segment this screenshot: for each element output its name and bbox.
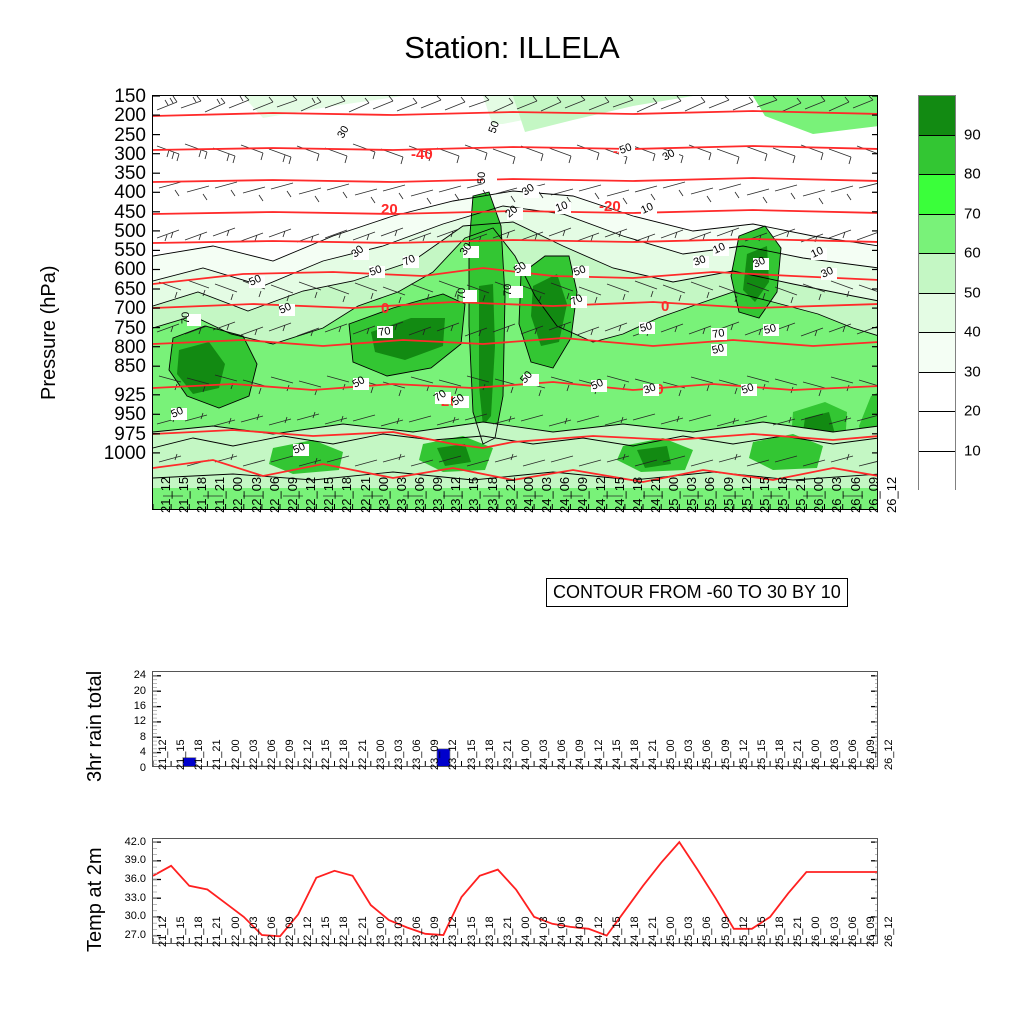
x-tick-23_12: 23_12	[447, 739, 459, 770]
svg-text:70: 70	[180, 312, 192, 324]
x-tick-26_12: 26_12	[883, 916, 895, 947]
x-tick-23_15: 23_15	[466, 739, 478, 770]
svg-text:0: 0	[381, 300, 389, 317]
x-tick-22_12: 22_12	[303, 477, 318, 513]
x-tick-25_15: 25_15	[756, 739, 768, 770]
x-tick-23_21: 23_21	[502, 916, 514, 947]
x-tick-23_18: 23_18	[484, 916, 496, 947]
x-tick-21_18: 21_18	[194, 477, 209, 513]
x-tick-26_06: 26_06	[847, 739, 859, 770]
x-tick-22_21: 22_21	[357, 916, 369, 947]
x-tick-24_15: 24_15	[611, 739, 623, 770]
x-tick-22_09: 22_09	[284, 739, 296, 770]
x-tick-25_00: 25_00	[665, 916, 677, 947]
x-tick-22_06: 22_06	[266, 916, 278, 947]
colorbar-label-60: 60	[964, 245, 981, 262]
temp-y-tick-39: 39.0	[125, 854, 146, 866]
x-tick-23_21: 23_21	[502, 739, 514, 770]
x-tick-26_12: 26_12	[884, 477, 899, 513]
x-tick-22_06: 22_06	[267, 477, 282, 513]
x-tick-23_03: 23_03	[394, 477, 409, 513]
x-tick-21_21: 21_21	[211, 739, 223, 770]
x-tick-22_12: 22_12	[302, 916, 314, 947]
x-tick-23_12: 23_12	[448, 477, 463, 513]
temp-panel-y-axis: 27.030.033.036.039.042.0	[100, 838, 146, 944]
rain-y-tick-16: 16	[134, 700, 146, 712]
x-tick-24_15: 24_15	[612, 477, 627, 513]
page-title: Station: ILLELA	[0, 30, 1024, 66]
x-tick-24_21: 24_21	[648, 477, 663, 513]
x-tick-23_00: 23_00	[375, 739, 387, 770]
x-tick-22_00: 22_00	[230, 739, 242, 770]
x-tick-22_21: 22_21	[357, 739, 369, 770]
x-tick-25_21: 25_21	[792, 916, 804, 947]
main-y-tick-1000: 1000	[104, 443, 146, 465]
x-tick-23_21: 23_21	[503, 477, 518, 513]
temp-panel[interactable]	[152, 838, 878, 944]
x-tick-24_06: 24_06	[556, 739, 568, 770]
x-tick-22_03: 22_03	[249, 477, 264, 513]
x-tick-24_18: 24_18	[629, 916, 641, 947]
rain-plot-canvas	[153, 672, 878, 767]
x-tick-24_15: 24_15	[611, 916, 623, 947]
colorbar-label-40: 40	[964, 324, 981, 341]
x-tick-24_18: 24_18	[629, 739, 641, 770]
x-tick-22_09: 22_09	[284, 916, 296, 947]
x-tick-25_09: 25_09	[721, 477, 736, 513]
x-tick-21_15: 21_15	[175, 916, 187, 947]
x-tick-25_12: 25_12	[739, 477, 754, 513]
x-tick-24_12: 24_12	[593, 916, 605, 947]
svg-text:-40: -40	[411, 146, 433, 163]
svg-text:70: 70	[377, 325, 391, 339]
temp-plot-canvas	[153, 839, 878, 944]
x-tick-26_00: 26_00	[810, 916, 822, 947]
svg-text:20: 20	[381, 201, 398, 218]
rain-y-tick-20: 20	[134, 685, 146, 697]
rain-y-tick-12: 12	[134, 715, 146, 727]
svg-text:50: 50	[476, 172, 488, 184]
x-tick-25_15: 25_15	[756, 916, 768, 947]
x-tick-21_15: 21_15	[176, 477, 191, 513]
x-tick-22_18: 22_18	[338, 739, 350, 770]
x-tick-22_00: 22_00	[230, 916, 242, 947]
x-tick-22_15: 22_15	[321, 477, 336, 513]
main-panel-y-axis: 1502002503003504004505005506006507007508…	[60, 95, 146, 510]
x-tick-23_15: 23_15	[466, 916, 478, 947]
x-tick-24_00: 24_00	[520, 916, 532, 947]
colorbar-label-50: 50	[964, 284, 981, 301]
x-tick-22_00: 22_00	[230, 477, 245, 513]
x-tick-21_12: 21_12	[157, 739, 169, 770]
temp-y-tick-36: 36.0	[125, 873, 146, 885]
x-tick-23_09: 23_09	[430, 477, 445, 513]
x-tick-25_03: 25_03	[683, 739, 695, 770]
x-tick-24_09: 24_09	[574, 916, 586, 947]
x-tick-25_03: 25_03	[683, 916, 695, 947]
main-plot-canvas: -40 -40 20 -20 0 0 20 20 30 50 50 30 50 …	[153, 96, 878, 510]
colorbar-label-80: 80	[964, 166, 981, 183]
x-tick-24_06: 24_06	[556, 916, 568, 947]
x-tick-24_06: 24_06	[557, 477, 572, 513]
temp-plot-frame[interactable]	[152, 838, 878, 944]
x-tick-25_21: 25_21	[793, 477, 808, 513]
svg-text:0: 0	[661, 298, 669, 315]
x-tick-24_12: 24_12	[593, 477, 608, 513]
x-tick-22_21: 22_21	[358, 477, 373, 513]
x-tick-26_09: 26_09	[865, 739, 877, 770]
x-tick-26_09: 26_09	[865, 916, 877, 947]
x-tick-23_03: 23_03	[393, 916, 405, 947]
x-tick-25_06: 25_06	[701, 739, 713, 770]
colorbar-labels: 908070605040302010	[918, 95, 1018, 490]
x-tick-22_03: 22_03	[248, 739, 260, 770]
x-tick-21_18: 21_18	[193, 739, 205, 770]
x-tick-26_06: 26_06	[848, 477, 863, 513]
x-tick-25_18: 25_18	[774, 916, 786, 947]
x-tick-23_06: 23_06	[411, 739, 423, 770]
x-tick-25_06: 25_06	[702, 477, 717, 513]
x-tick-23_18: 23_18	[484, 739, 496, 770]
x-tick-21_12: 21_12	[157, 916, 169, 947]
x-tick-26_00: 26_00	[810, 739, 822, 770]
main-panel-x-axis: 21_1221_1521_1821_2122_0022_0322_0622_09…	[152, 513, 878, 583]
x-tick-25_09: 25_09	[720, 916, 732, 947]
colorbar-label-20: 20	[964, 403, 981, 420]
x-tick-22_15: 22_15	[320, 916, 332, 947]
rain-y-tick-4: 4	[140, 746, 146, 758]
x-tick-21_21: 21_21	[212, 477, 227, 513]
x-tick-25_18: 25_18	[775, 477, 790, 513]
x-tick-23_06: 23_06	[411, 916, 423, 947]
x-tick-25_12: 25_12	[738, 739, 750, 770]
x-tick-22_18: 22_18	[339, 477, 354, 513]
rain-y-tick-0: 0	[140, 762, 146, 774]
x-tick-22_15: 22_15	[320, 739, 332, 770]
x-tick-23_03: 23_03	[393, 739, 405, 770]
svg-text:70: 70	[711, 327, 725, 341]
main-y-tick-850: 850	[114, 356, 146, 378]
x-tick-25_18: 25_18	[774, 739, 786, 770]
x-tick-25_15: 25_15	[757, 477, 772, 513]
x-tick-24_09: 24_09	[574, 739, 586, 770]
rain-plot-frame[interactable]	[152, 671, 878, 767]
temp-y-tick-42: 42.0	[125, 836, 146, 848]
x-tick-24_12: 24_12	[593, 739, 605, 770]
x-tick-21_21: 21_21	[211, 916, 223, 947]
rain-panel-x-axis: 21_1221_1521_1821_2122_0022_0322_0622_09…	[152, 770, 878, 840]
colorbar-label-70: 70	[964, 205, 981, 222]
x-tick-26_12: 26_12	[883, 739, 895, 770]
x-tick-26_06: 26_06	[847, 916, 859, 947]
x-tick-21_18: 21_18	[193, 916, 205, 947]
x-tick-22_03: 22_03	[248, 916, 260, 947]
x-tick-23_00: 23_00	[376, 477, 391, 513]
rain-panel-y-axis-label: 3hr rain total	[84, 671, 107, 782]
x-tick-25_00: 25_00	[665, 739, 677, 770]
contour-note: CONTOUR FROM -60 TO 30 BY 10	[546, 578, 848, 607]
main-panel-y-axis-label: Pressure (hPa)	[38, 266, 61, 401]
x-tick-24_00: 24_00	[520, 739, 532, 770]
x-tick-21_12: 21_12	[158, 477, 173, 513]
x-tick-22_18: 22_18	[338, 916, 350, 947]
x-tick-24_21: 24_21	[647, 739, 659, 770]
x-tick-22_12: 22_12	[302, 739, 314, 770]
x-tick-22_09: 22_09	[285, 477, 300, 513]
x-tick-26_03: 26_03	[829, 916, 841, 947]
x-tick-25_21: 25_21	[792, 739, 804, 770]
x-tick-23_12: 23_12	[447, 916, 459, 947]
rain-panel-y-axis: 04812162024	[108, 671, 146, 767]
x-tick-24_21: 24_21	[647, 916, 659, 947]
x-tick-23_09: 23_09	[429, 739, 441, 770]
x-tick-21_15: 21_15	[175, 739, 187, 770]
x-tick-24_03: 24_03	[539, 477, 554, 513]
svg-text:70: 70	[456, 288, 468, 300]
x-tick-24_03: 24_03	[538, 916, 550, 947]
colorbar-label-10: 10	[964, 442, 981, 459]
x-tick-24_00: 24_00	[521, 477, 536, 513]
x-tick-26_09: 26_09	[866, 477, 881, 513]
x-tick-25_06: 25_06	[701, 916, 713, 947]
main-plot-frame[interactable]: -40 -40 20 -20 0 0 20 20 30 50 50 30 50 …	[152, 95, 878, 510]
x-tick-23_18: 23_18	[485, 477, 500, 513]
colorbar-label-30: 30	[964, 363, 981, 380]
x-tick-26_03: 26_03	[829, 739, 841, 770]
time-height-cross-section-panel[interactable]: -40 -40 20 -20 0 0 20 20 30 50 50 30 50 …	[152, 95, 878, 510]
x-tick-23_15: 23_15	[466, 477, 481, 513]
svg-text:70: 70	[502, 284, 514, 296]
svg-text:-20: -20	[599, 198, 621, 215]
temp-y-tick-27: 27.0	[125, 929, 146, 941]
x-tick-25_03: 25_03	[684, 477, 699, 513]
x-tick-26_03: 26_03	[829, 477, 844, 513]
x-tick-23_09: 23_09	[429, 916, 441, 947]
x-tick-25_12: 25_12	[738, 916, 750, 947]
x-tick-23_06: 23_06	[412, 477, 427, 513]
x-tick-26_00: 26_00	[811, 477, 826, 513]
x-tick-23_00: 23_00	[375, 916, 387, 947]
x-tick-25_00: 25_00	[666, 477, 681, 513]
temp-y-tick-30: 30.0	[125, 910, 146, 922]
x-tick-24_03: 24_03	[538, 739, 550, 770]
temp-y-tick-33: 33.0	[125, 892, 146, 904]
rain-y-tick-24: 24	[134, 669, 146, 681]
x-tick-24_18: 24_18	[630, 477, 645, 513]
x-tick-24_09: 24_09	[575, 477, 590, 513]
x-tick-22_06: 22_06	[266, 739, 278, 770]
temp-panel-x-axis: 21_1221_1521_1821_2122_0022_0322_0622_09…	[152, 947, 878, 1017]
colorbar-label-90: 90	[964, 126, 981, 143]
rain-panel[interactable]	[152, 671, 878, 767]
rain-y-tick-8: 8	[140, 731, 146, 743]
x-tick-25_09: 25_09	[720, 739, 732, 770]
